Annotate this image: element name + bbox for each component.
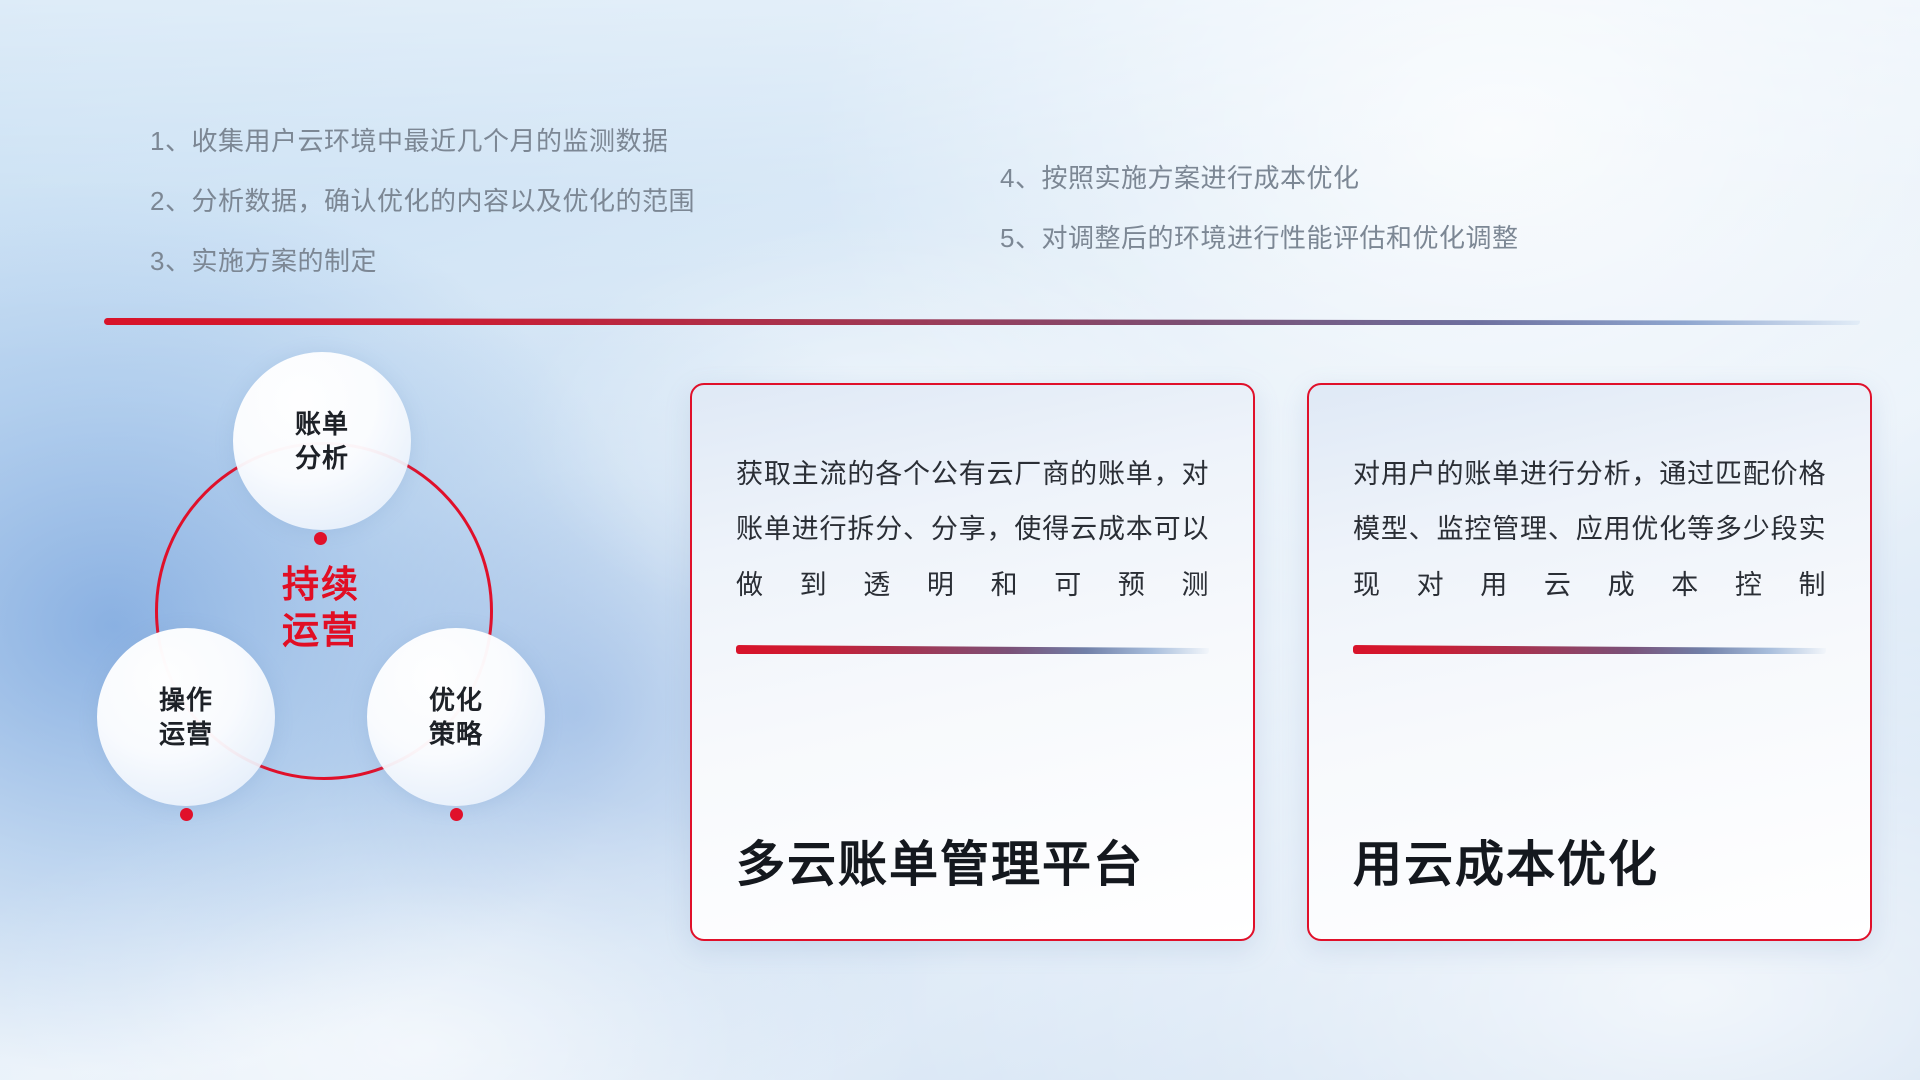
step-item-1: 1、收集用户云环境中最近几个月的监测数据 [150, 128, 695, 154]
venn-center-label: 持续 运营 [155, 442, 487, 774]
venn-node-dot-bottom-left [180, 808, 193, 821]
steps-right-column: 4、按照实施方案进行成本优化 5、对调整后的环境进行性能评估和优化调整 [1000, 165, 1518, 285]
step-item-3: 3、实施方案的制定 [150, 248, 695, 274]
card-1-title: 多云账单管理平台 [692, 839, 1253, 939]
card-2-title: 用云成本优化 [1309, 839, 1870, 939]
venn-bubble-top-line1: 账单 [295, 407, 349, 441]
card-2-divider [1353, 645, 1826, 654]
step-item-4: 4、按照实施方案进行成本优化 [1000, 165, 1518, 191]
venn-diagram: 操作 运营 优化 策略 账单 分析 持续 运营 [95, 352, 635, 952]
feature-card-multicloud-billing[interactable]: 获取主流的各个公有云厂商的账单，对账单进行拆分、分享，使得云成本可以做到透明和可… [690, 383, 1255, 941]
card-2-body-text: 对用户的账单进行分析，通过匹配价格模型、监控管理、应用优化等多少段实现对用云成本… [1309, 385, 1870, 613]
card-1-body-text: 获取主流的各个公有云厂商的账单，对账单进行拆分、分享，使得云成本可以做到透明和可… [692, 385, 1253, 613]
venn-node-dot-top [314, 532, 327, 545]
venn-center-label-line2: 运营 [282, 608, 360, 654]
venn-center-label-line1: 持续 [282, 562, 360, 608]
step-item-5: 5、对调整后的环境进行性能评估和优化调整 [1000, 225, 1518, 251]
venn-node-dot-bottom-right [450, 808, 463, 821]
feature-card-cost-optimization[interactable]: 对用户的账单进行分析，通过匹配价格模型、监控管理、应用优化等多少段实现对用云成本… [1307, 383, 1872, 941]
step-item-2: 2、分析数据，确认优化的内容以及优化的范围 [150, 188, 695, 214]
steps-left-column: 1、收集用户云环境中最近几个月的监测数据 2、分析数据，确认优化的内容以及优化的… [150, 128, 695, 308]
card-1-divider [736, 645, 1209, 654]
